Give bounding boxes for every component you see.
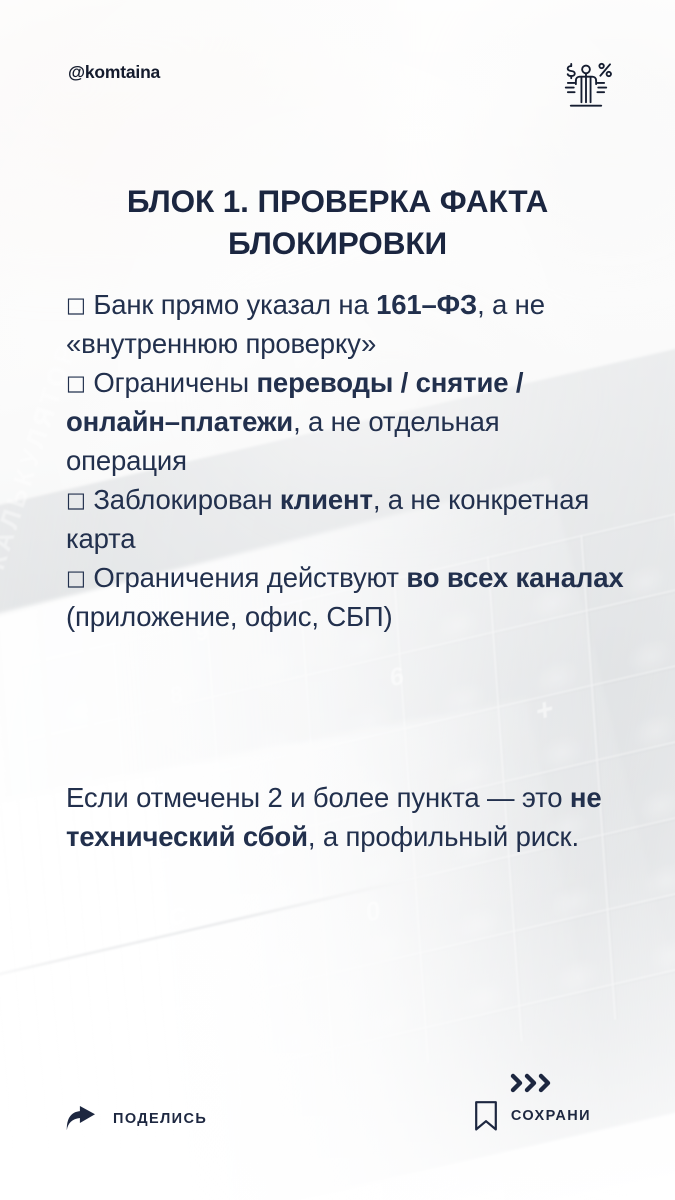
list-item-text-bold: клиент — [280, 484, 373, 515]
conclusion-text-before: Если отмечены 2 и более пункта — это — [66, 782, 570, 813]
list-item-text-bold: 161–ФЗ — [376, 289, 477, 320]
share-button[interactable]: ПОДЕЛИСЬ — [66, 1106, 207, 1132]
list-item-text-before: Заблокирован — [86, 484, 280, 515]
list-item: □ Заблокирован клиент, а не конкретная к… — [66, 480, 627, 558]
save-label: СОХРАНИ — [511, 1108, 591, 1124]
checkbox-glyph: □ — [66, 488, 86, 512]
list-item-text-before: Ограничения действуют — [86, 562, 407, 593]
save-button[interactable]: СОХРАНИ — [474, 1100, 591, 1132]
share-label: ПОДЕЛИСЬ — [113, 1111, 207, 1127]
list-item-text-before: Банк прямо указал на — [86, 289, 376, 320]
list-item-text-after: (приложение, офис, СБП) — [66, 601, 393, 632]
account-handle: @komtaina — [68, 62, 160, 83]
conclusion-text-after: , а профильный риск. — [308, 821, 579, 852]
share-arrow-icon — [66, 1106, 96, 1132]
list-item: □ Ограничены переводы / снятие / онлайн–… — [66, 363, 627, 480]
list-item-text-before: Ограничены — [86, 367, 257, 398]
checkbox-glyph: □ — [66, 371, 86, 395]
person-dollar-percent-logo-icon — [559, 58, 613, 112]
page-title: БЛОК 1. ПРОВЕРКА ФАКТА БЛОКИРОВКИ — [58, 181, 617, 264]
list-item: □ Банк прямо указал на 161–ФЗ, а не «вну… — [66, 285, 627, 363]
checkbox-glyph: □ — [66, 566, 86, 590]
triple-chevron-right-icon — [509, 1072, 557, 1094]
bookmark-icon — [474, 1100, 498, 1132]
story-slide: AC ON CE 0 6 8 9 + 1 КАЛЬКУЛЯТОР @komtai… — [0, 0, 675, 1200]
checkbox-glyph: □ — [66, 293, 86, 317]
list-item: □ Ограничения действуют во всех каналах … — [66, 558, 627, 636]
conclusion-paragraph: Если отмечены 2 и более пункта — это не … — [66, 778, 627, 856]
checklist: □ Банк прямо указал на 161–ФЗ, а не «вну… — [66, 285, 627, 636]
list-item-text-bold: во всех каналах — [406, 562, 623, 593]
slide-content: @komtaina — [0, 0, 675, 1200]
